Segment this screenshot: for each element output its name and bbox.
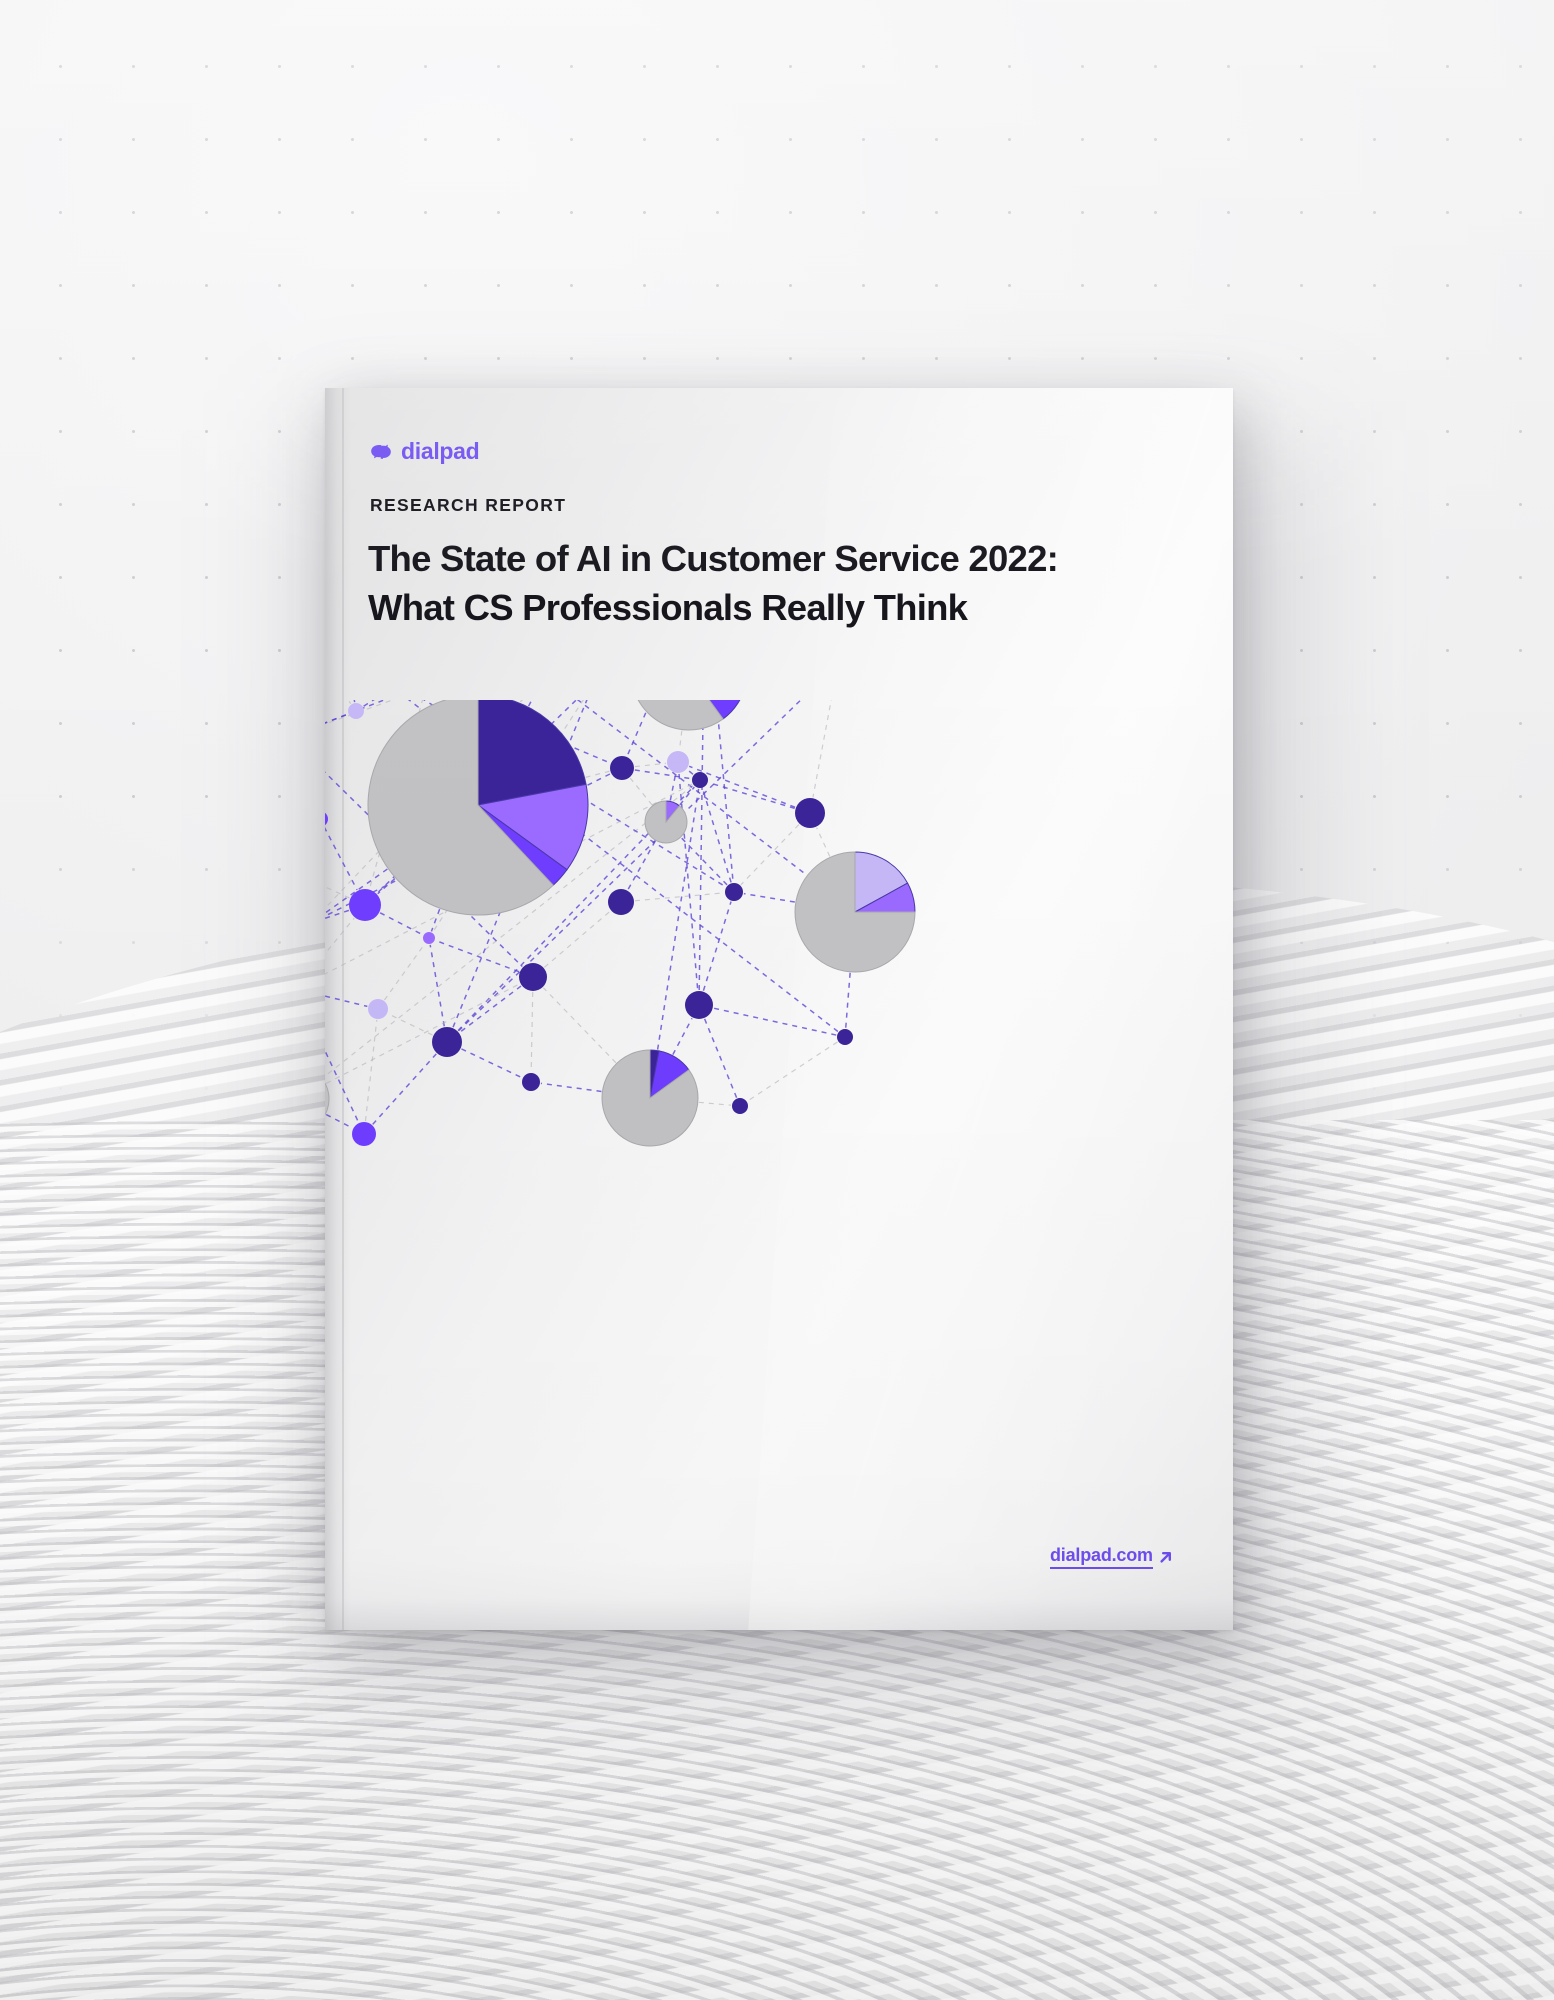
graph-edge <box>817 828 830 857</box>
graph-node <box>325 811 328 827</box>
dialpad-website-link-label: dialpad.com <box>1050 1545 1153 1569</box>
graph-node <box>423 932 435 944</box>
page-title-line-1: The State of AI in Customer Service 2022… <box>368 535 1158 584</box>
graph-node <box>519 963 547 991</box>
graph-node <box>725 883 743 901</box>
graph-edge <box>699 1102 731 1105</box>
graph-edge <box>365 1020 376 1121</box>
graph-edge <box>543 988 616 1063</box>
graph-node <box>692 772 708 788</box>
graph-node <box>685 991 713 1019</box>
graph-edge <box>529 700 540 706</box>
graph-edge <box>353 700 355 702</box>
graph-edge <box>461 1049 522 1078</box>
graph-edge <box>706 700 733 882</box>
graph-edge <box>325 827 357 890</box>
graph-edge <box>635 763 666 766</box>
graph-edge <box>325 991 367 1006</box>
graph-edge <box>689 766 795 807</box>
graph-edge <box>325 700 326 724</box>
graph-edge <box>430 945 444 1026</box>
graph-edge <box>380 913 423 935</box>
graph-edge <box>384 944 424 1000</box>
graph-edge <box>679 774 698 990</box>
pie-chart <box>368 700 588 915</box>
graph-node <box>837 1029 853 1045</box>
graph-edge <box>670 774 675 801</box>
report-eyebrow-label: RESEARCH REPORT <box>370 495 566 516</box>
graph-node <box>522 1073 540 1091</box>
graph-edge <box>326 1115 352 1128</box>
pie-slice <box>645 801 687 843</box>
graph-edge <box>699 700 705 990</box>
graph-edge <box>325 910 349 920</box>
external-link-arrow-icon <box>1158 1549 1174 1565</box>
graph-edge <box>325 998 358 1122</box>
dialpad-website-link[interactable]: dialpad.com <box>1050 1545 1174 1569</box>
graph-edge <box>705 1019 737 1098</box>
graph-node <box>732 1098 748 1114</box>
pie-chart <box>795 852 915 972</box>
graph-edge <box>541 1083 602 1091</box>
graph-edge <box>703 789 731 883</box>
graph-edge <box>687 770 693 775</box>
graph-node <box>352 1122 376 1146</box>
graph-edge <box>846 973 850 1028</box>
graph-edge <box>679 731 681 751</box>
network-graph-svg <box>325 700 1233 1460</box>
graph-edge <box>635 893 724 901</box>
graph-edge <box>714 1008 837 1035</box>
graph-node <box>432 1027 462 1057</box>
pie-slice <box>325 1066 329 1132</box>
scene-root: dialpad RESEARCH REPORT The State of AI … <box>0 0 1554 2000</box>
pie-chart <box>645 801 687 843</box>
graph-edge <box>744 894 795 902</box>
network-pie-chart-illustration <box>325 700 1233 1460</box>
graph-edge <box>741 825 799 885</box>
graph-edge <box>325 918 354 981</box>
graph-edge <box>373 1054 437 1124</box>
pie-chart <box>631 700 747 730</box>
graph-node <box>608 889 634 915</box>
graph-edge <box>709 783 795 809</box>
document-bottom-curl <box>325 1560 1233 1630</box>
graph-node <box>348 703 364 719</box>
graph-edge <box>673 1018 692 1054</box>
graph-edge <box>531 992 533 1072</box>
graph-node <box>667 751 689 773</box>
graph-edge <box>460 986 521 1032</box>
graph-edge <box>628 841 655 890</box>
graph-edge <box>325 700 351 704</box>
graph-node <box>610 756 634 780</box>
graph-node <box>795 798 825 828</box>
page-title: The State of AI in Customer Service 2022… <box>368 535 1158 632</box>
graph-edge <box>630 778 652 805</box>
dialpad-speech-bubbles-icon <box>370 444 392 459</box>
graph-edge <box>325 714 348 731</box>
graph-node <box>368 999 388 1019</box>
graph-node <box>349 889 381 921</box>
dialpad-logo[interactable]: dialpad <box>370 440 479 463</box>
graph-edge <box>748 1042 838 1101</box>
pie-chart <box>602 1050 698 1146</box>
graph-edge <box>813 700 836 797</box>
dialpad-logo-text: dialpad <box>401 440 479 463</box>
page-title-line-2: What CS Professionals Really Think <box>368 584 1158 633</box>
pie-chart <box>325 1066 329 1132</box>
